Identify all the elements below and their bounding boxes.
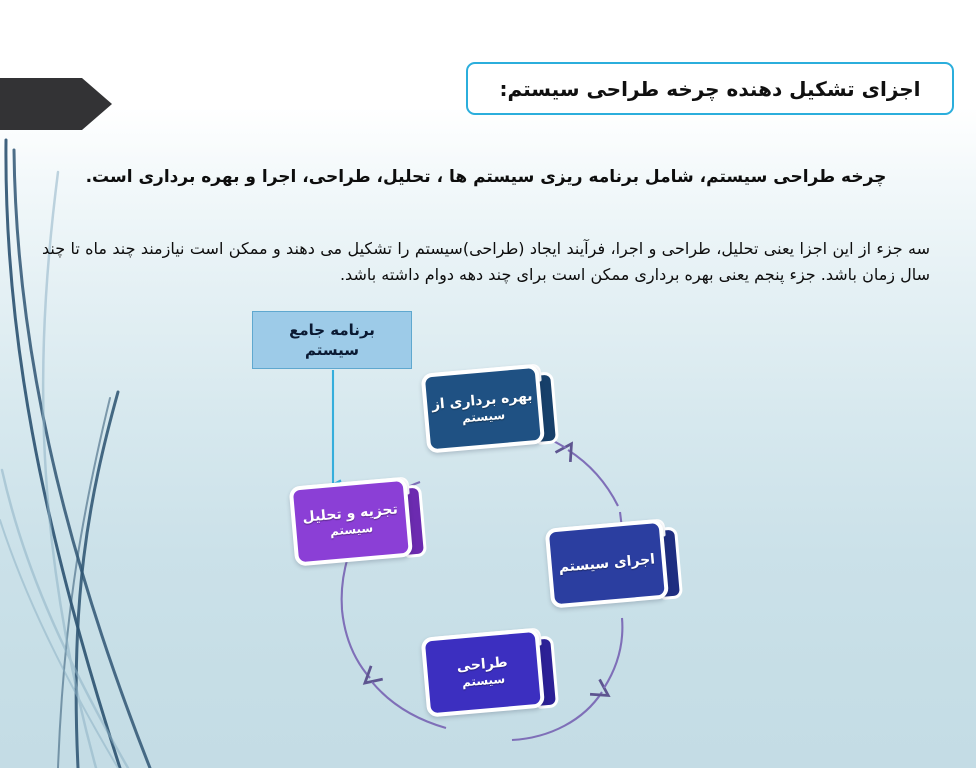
cycle-arc-implementation-to-operation	[568, 450, 618, 506]
stage-box-design: طراحی سیستم	[421, 626, 560, 721]
stage-label-line2: سیستم	[461, 672, 505, 691]
stage-box-operation: بهره برداری از سیستم	[421, 362, 560, 457]
lead-paragraph: چرخه طراحی سیستم، شامل برنامه ریزی سیستم…	[42, 166, 930, 190]
slide-canvas: اجزای تشکیل دهنده چرخه طراحی سیستم: چرخه…	[0, 0, 976, 768]
stage-box-face: اجرای سیستم	[545, 519, 670, 609]
slide-title-box: اجزای تشکیل دهنده چرخه طراحی سیستم:	[466, 62, 954, 115]
stage-box-face: تجزیه و تحلیل سیستم	[289, 477, 414, 567]
page-title: اجزای تشکیل دهنده چرخه طراحی سیستم:	[499, 77, 920, 101]
stage-box-implementation: اجرای سیستم	[545, 517, 684, 612]
decorative-arrow-banner	[0, 78, 112, 130]
cycle-arc-analysis-to-design	[342, 610, 370, 678]
stage-box-analysis: تجزیه و تحلیل سیستم	[289, 475, 428, 570]
plan-box-line2: سیستم	[305, 340, 359, 360]
stage-box-face: طراحی سیستم	[421, 628, 546, 718]
plan-box: برنامه جامع سیستم	[252, 311, 412, 369]
plan-box-line1: برنامه جامع	[289, 320, 375, 340]
body-paragraph: سه جزء از این اجزا یعنی تحلیل، طراحی و ا…	[42, 236, 930, 289]
stage-label-line2: سیستم	[461, 408, 505, 427]
stage-box-face: بهره برداری از سیستم	[421, 364, 546, 454]
stage-label-line2: سیستم	[329, 521, 373, 540]
stage-label-line1: اجرای سیستم	[558, 550, 656, 577]
